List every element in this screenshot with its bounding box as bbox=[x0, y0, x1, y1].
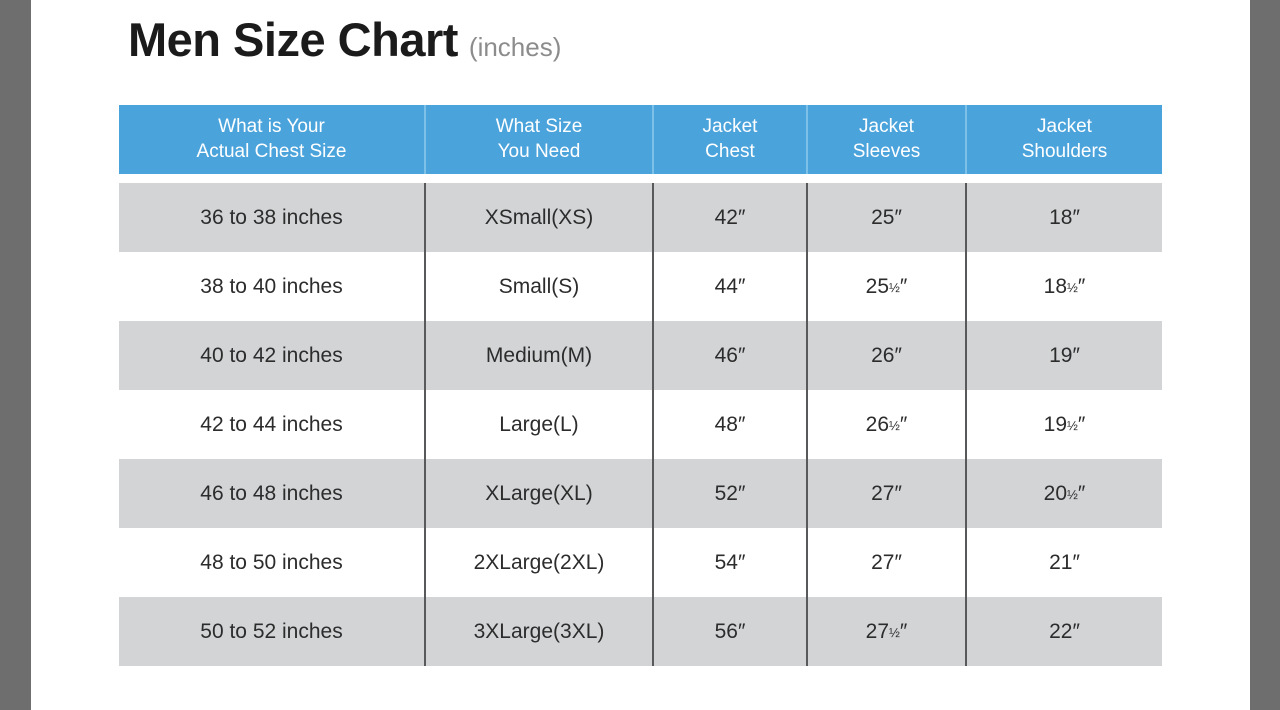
cell-jacket-shoulders: 18½″ bbox=[966, 252, 1162, 321]
column-header-jacket-chest: Jacket Chest bbox=[653, 105, 807, 174]
cell-actual-chest-size: 50 to 52 inches bbox=[119, 597, 425, 666]
cell-jacket-chest: 48″ bbox=[653, 390, 807, 459]
column-header-line-1: Jacket bbox=[812, 115, 961, 139]
cell-jacket-chest: 46″ bbox=[653, 321, 807, 390]
cell-jacket-sleeves: 27½″ bbox=[807, 597, 966, 666]
cell-jacket-chest: 56″ bbox=[653, 597, 807, 666]
column-header-line-2: Chest bbox=[658, 140, 802, 164]
cell-jacket-sleeves: 25½″ bbox=[807, 252, 966, 321]
cell-jacket-shoulders: 18″ bbox=[966, 183, 1162, 252]
cell-actual-chest-size: 46 to 48 inches bbox=[119, 459, 425, 528]
column-header-size-you-need: What Size You Need bbox=[425, 105, 653, 174]
table-row: 50 to 52 inches 3XLarge(3XL) 56″ 27½″ 22… bbox=[119, 597, 1162, 666]
column-header-line-1: Jacket bbox=[971, 115, 1158, 139]
page-title-units: (inches) bbox=[469, 34, 561, 60]
column-header-line-2: Shoulders bbox=[971, 140, 1158, 164]
cell-size-you-need: XLarge(XL) bbox=[425, 459, 653, 528]
chart-stage: Men Size Chart (inches) What is Your Act… bbox=[31, 0, 1250, 710]
cell-jacket-chest: 42″ bbox=[653, 183, 807, 252]
cell-size-you-need: Small(S) bbox=[425, 252, 653, 321]
cell-size-you-need: 3XLarge(3XL) bbox=[425, 597, 653, 666]
column-header-jacket-shoulders: Jacket Shoulders bbox=[966, 105, 1162, 174]
column-header-actual-chest-size: What is Your Actual Chest Size bbox=[119, 105, 425, 174]
table-row: 42 to 44 inches Large(L) 48″ 26½″ 19½″ bbox=[119, 390, 1162, 459]
cell-size-you-need: XSmall(XS) bbox=[425, 183, 653, 252]
table-row: 38 to 40 inches Small(S) 44″ 25½″ 18½″ bbox=[119, 252, 1162, 321]
table-body: 36 to 38 inches XSmall(XS) 42″ 25″ 18″ 3… bbox=[119, 183, 1162, 666]
cell-jacket-shoulders: 22″ bbox=[966, 597, 1162, 666]
cell-actual-chest-size: 40 to 42 inches bbox=[119, 321, 425, 390]
letterbox-bar-right bbox=[1250, 0, 1280, 710]
cell-size-you-need: 2XLarge(2XL) bbox=[425, 528, 653, 597]
column-header-line-2: Actual Chest Size bbox=[123, 140, 420, 164]
table-header-row: What is Your Actual Chest Size What Size… bbox=[119, 105, 1162, 174]
column-header-line-2: Sleeves bbox=[812, 140, 961, 164]
letterbox-bar-left bbox=[0, 0, 31, 710]
cell-jacket-sleeves: 27″ bbox=[807, 528, 966, 597]
table-row: 46 to 48 inches XLarge(XL) 52″ 27″ 20½″ bbox=[119, 459, 1162, 528]
column-header-jacket-sleeves: Jacket Sleeves bbox=[807, 105, 966, 174]
table-row: 48 to 50 inches 2XLarge(2XL) 54″ 27″ 21″ bbox=[119, 528, 1162, 597]
cell-actual-chest-size: 48 to 50 inches bbox=[119, 528, 425, 597]
cell-jacket-sleeves: 26½″ bbox=[807, 390, 966, 459]
page-title: Men Size Chart (inches) bbox=[128, 16, 561, 63]
cell-jacket-shoulders: 19″ bbox=[966, 321, 1162, 390]
cell-actual-chest-size: 42 to 44 inches bbox=[119, 390, 425, 459]
table-row: 36 to 38 inches XSmall(XS) 42″ 25″ 18″ bbox=[119, 183, 1162, 252]
size-chart-table: What is Your Actual Chest Size What Size… bbox=[119, 105, 1162, 666]
cell-jacket-shoulders: 20½″ bbox=[966, 459, 1162, 528]
table-row: 40 to 42 inches Medium(M) 46″ 26″ 19″ bbox=[119, 321, 1162, 390]
cell-jacket-chest: 54″ bbox=[653, 528, 807, 597]
cell-jacket-chest: 44″ bbox=[653, 252, 807, 321]
column-header-line-2: You Need bbox=[430, 140, 648, 164]
cell-actual-chest-size: 38 to 40 inches bbox=[119, 252, 425, 321]
column-header-line-1: Jacket bbox=[658, 115, 802, 139]
cell-actual-chest-size: 36 to 38 inches bbox=[119, 183, 425, 252]
column-header-line-1: What Size bbox=[430, 115, 648, 139]
cell-jacket-sleeves: 27″ bbox=[807, 459, 966, 528]
cell-size-you-need: Large(L) bbox=[425, 390, 653, 459]
page-title-main: Men Size Chart bbox=[128, 16, 458, 63]
column-header-line-1: What is Your bbox=[123, 115, 420, 139]
cell-jacket-shoulders: 21″ bbox=[966, 528, 1162, 597]
header-body-gap bbox=[119, 174, 1162, 183]
cell-jacket-chest: 52″ bbox=[653, 459, 807, 528]
cell-size-you-need: Medium(M) bbox=[425, 321, 653, 390]
cell-jacket-sleeves: 26″ bbox=[807, 321, 966, 390]
cell-jacket-sleeves: 25″ bbox=[807, 183, 966, 252]
cell-jacket-shoulders: 19½″ bbox=[966, 390, 1162, 459]
